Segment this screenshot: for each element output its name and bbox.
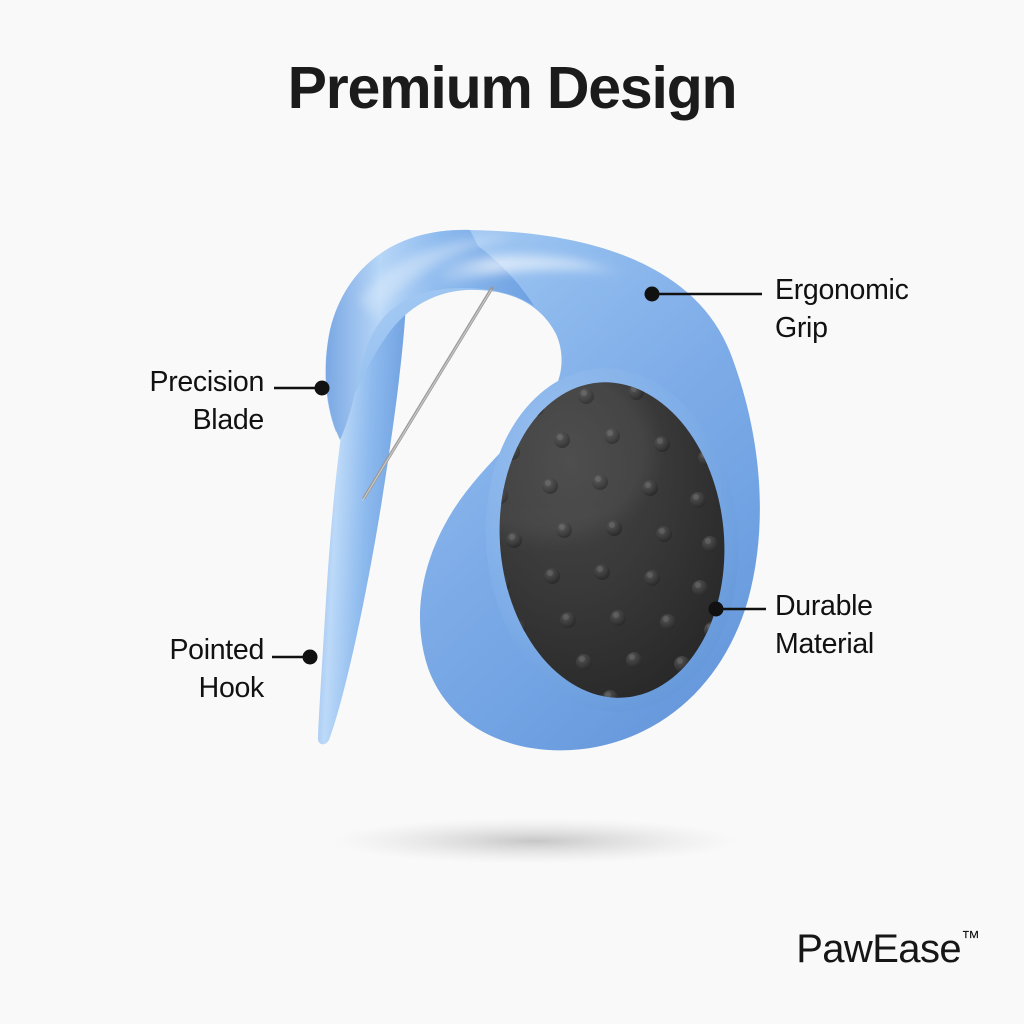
- brand-mark: PawEase™: [796, 927, 980, 972]
- callout-durable-material-line2: Material: [775, 626, 874, 664]
- brand-name: PawEase: [796, 927, 961, 971]
- callout-durable-material-line1: Durable: [775, 588, 874, 626]
- callout-pointed-hook: Pointed Hook: [36, 632, 264, 708]
- callout-ergonomic-grip-line1: Ergonomic: [775, 272, 909, 310]
- callout-pointed-hook-line1: Pointed: [36, 632, 264, 670]
- callout-pointed-hook-line2: Hook: [36, 670, 264, 708]
- callout-durable-material: Durable Material: [775, 588, 874, 664]
- callout-precision-blade-line1: Precision: [36, 364, 264, 402]
- infographic-canvas: Premium Design: [0, 0, 1024, 1024]
- product-shadow: [330, 818, 740, 864]
- callout-precision-blade-line2: Blade: [36, 402, 264, 440]
- callout-precision-blade: Precision Blade: [36, 364, 264, 440]
- product-illustration: [0, 0, 1024, 1024]
- trademark-symbol: ™: [961, 928, 980, 949]
- callout-ergonomic-grip: Ergonomic Grip: [775, 272, 909, 348]
- callout-ergonomic-grip-line2: Grip: [775, 310, 909, 348]
